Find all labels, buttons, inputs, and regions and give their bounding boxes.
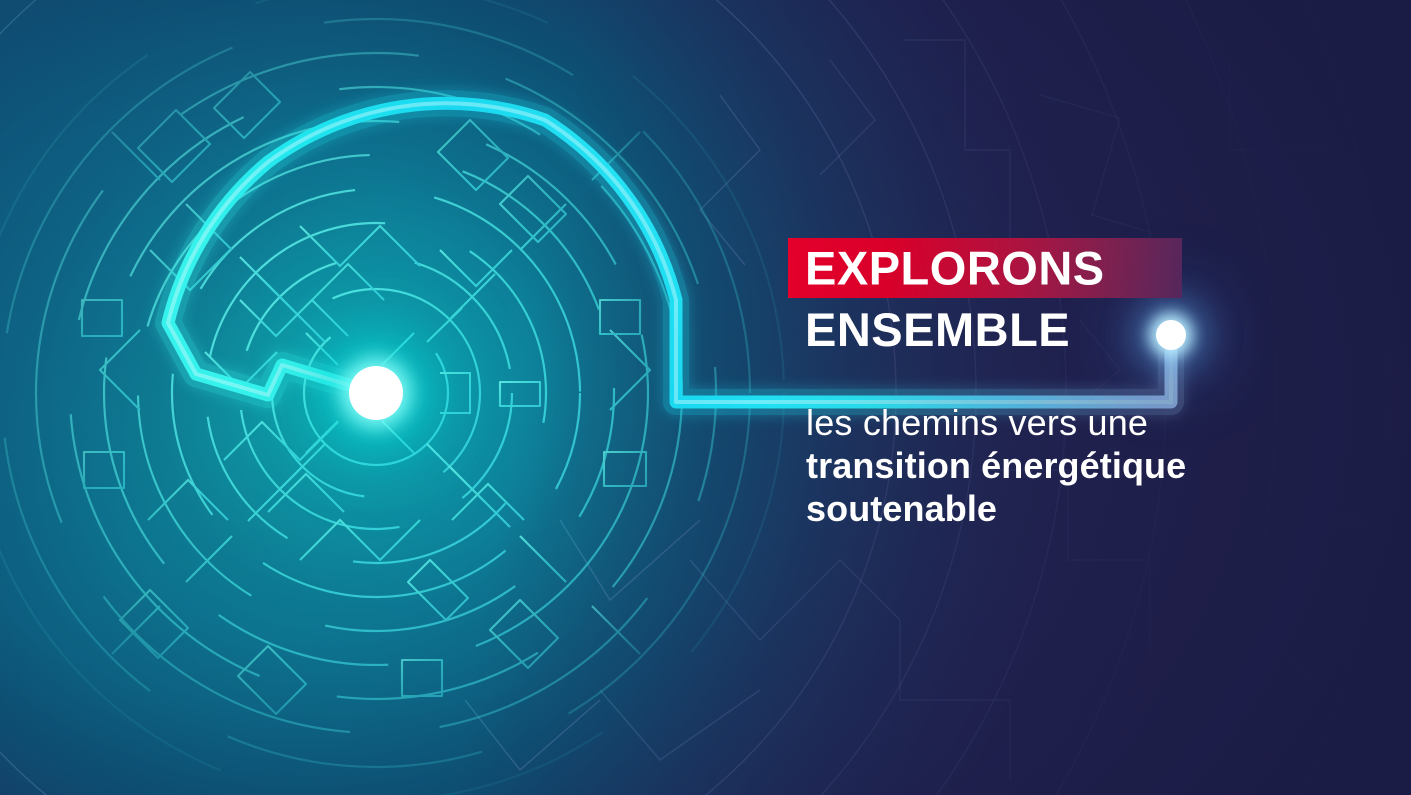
headline-banner: EXPLORONS xyxy=(788,238,1182,298)
subtitle-line-1: les chemins vers une xyxy=(806,401,1348,444)
headline-block: EXPLORONS ENSEMBLE les chemins vers une … xyxy=(788,238,1348,531)
subtitle-line-3: soutenable xyxy=(806,487,1348,530)
subtitle-block: les chemins vers une transition énergéti… xyxy=(806,401,1348,531)
subtitle-line-2: transition énergétique xyxy=(806,444,1348,487)
headline-line-2: ENSEMBLE xyxy=(805,303,1348,357)
headline-line-1: EXPLORONS xyxy=(805,245,1105,292)
slide-canvas: EXPLORONS ENSEMBLE les chemins vers une … xyxy=(0,0,1411,795)
start-node-icon xyxy=(349,366,403,420)
